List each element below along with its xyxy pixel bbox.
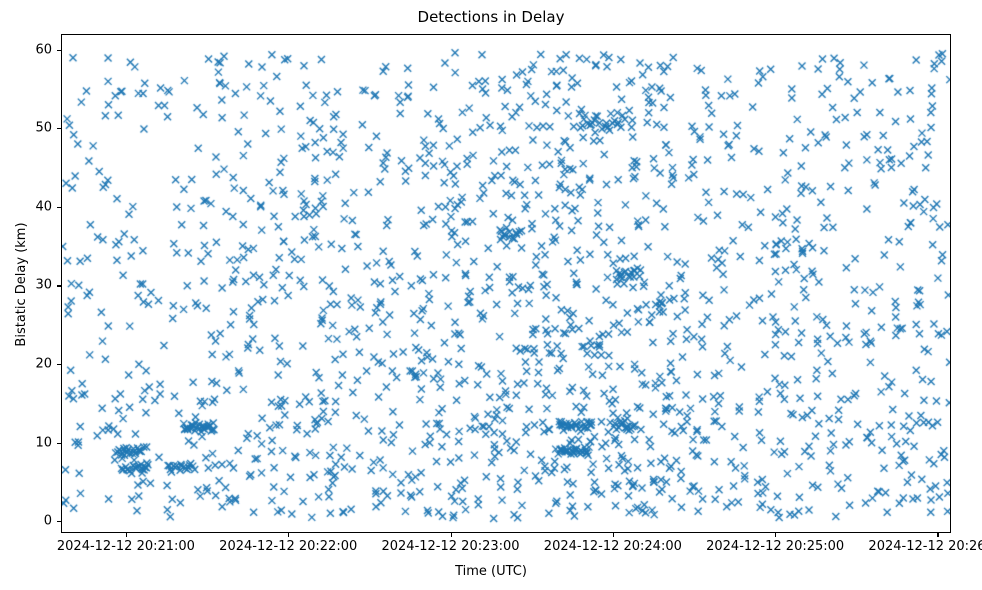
x-tick-label: 2024-12-12 20:23:00 <box>381 539 519 554</box>
x-tick-label: 2024-12-12 20:24:00 <box>544 539 682 554</box>
scatter-points-layer <box>62 35 950 532</box>
x-tick-mark <box>775 533 776 537</box>
x-tick-label: 2024-12-12 20:21:00 <box>57 539 195 554</box>
x-tick-mark <box>613 533 614 537</box>
matplotlib-figure: Detections in Delay 0102030405060 2024-1… <box>0 0 982 590</box>
plot-area <box>61 34 951 533</box>
x-tick-mark <box>126 533 127 537</box>
x-tick-label: 2024-12-12 20:25:00 <box>706 539 844 554</box>
x-tick-mark <box>451 533 452 537</box>
page-title: Detections in Delay <box>0 8 982 26</box>
x-tick-label: 2024-12-12 20:22:00 <box>219 539 357 554</box>
x-tick-label: 2024-12-12 20:26:00 <box>868 539 982 554</box>
x-tick-mark <box>937 533 938 537</box>
x-axis-label: Time (UTC) <box>0 564 982 579</box>
y-axis-label: Bistatic Delay (km) <box>14 35 29 534</box>
x-tick-mark <box>288 533 289 537</box>
